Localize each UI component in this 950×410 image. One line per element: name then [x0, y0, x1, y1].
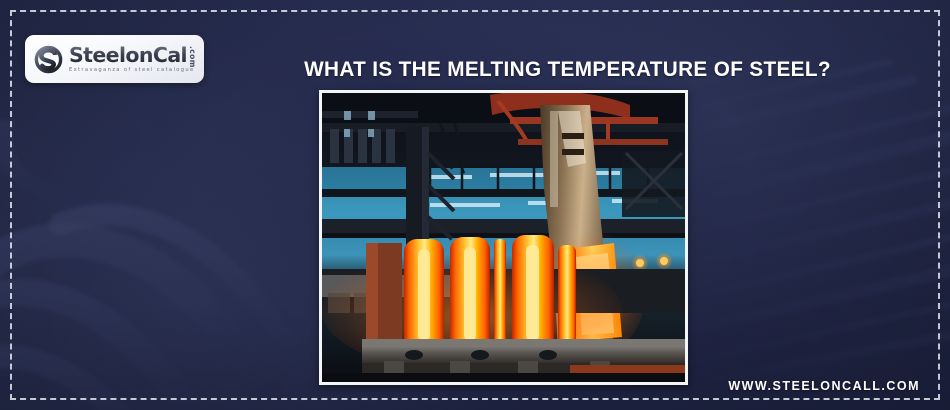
page-title: WHAT IS THE MELTING TEMPERATURE OF STEEL… [227, 57, 907, 82]
steel-mill-illustration-icon [322, 93, 685, 382]
hero-photo [322, 93, 685, 382]
hero-photo-frame [319, 90, 688, 385]
logo-wordmark: SteelonCall [69, 45, 186, 66]
logo-tagline: Extravaganza of steel catalogue [69, 67, 186, 74]
footer-website-url[interactable]: WWW.STEELONCALL.COM [728, 379, 920, 393]
logo-domain-suffix: .com [188, 46, 197, 68]
logo-plate[interactable]: SteelonCall Extravaganza of steel catalo… [25, 35, 204, 83]
banner-root: SteelonCall Extravaganza of steel catalo… [0, 0, 950, 410]
circle-s-logo-icon [33, 44, 64, 75]
